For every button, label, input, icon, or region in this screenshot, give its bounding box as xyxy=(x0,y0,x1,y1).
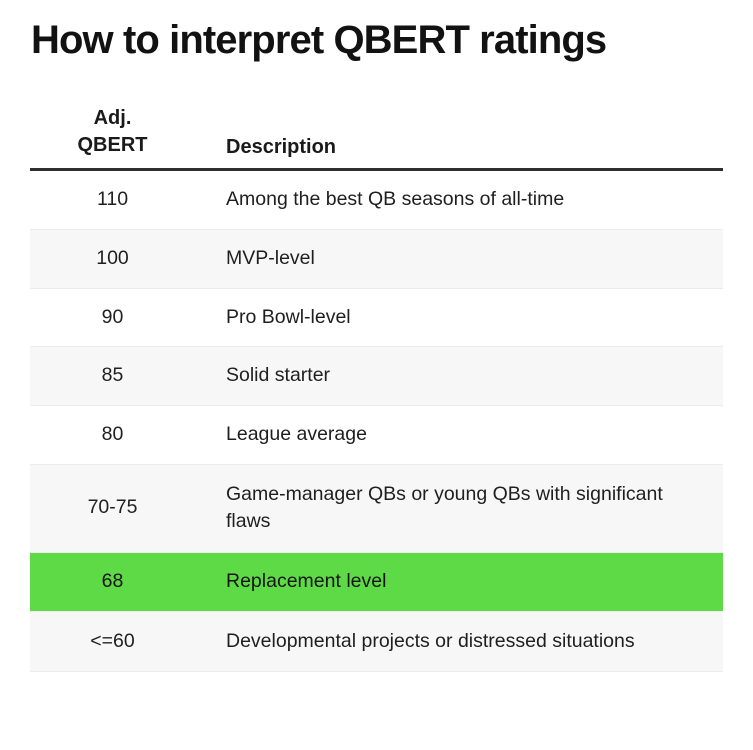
column-header-adj-qbert-line1: Adj. xyxy=(30,105,195,132)
column-header-adj-qbert: Adj. QBERT xyxy=(30,105,195,170)
table-row: 100MVP-level xyxy=(30,229,723,288)
cell-description: Replacement level xyxy=(195,552,723,611)
cell-description-text: Pro Bowl-level xyxy=(226,304,704,332)
cell-description-text: Replacement level xyxy=(226,568,704,596)
cell-adj-qbert: 110 xyxy=(30,170,195,230)
cell-adj-qbert: 100 xyxy=(30,229,195,288)
cell-description: MVP-level xyxy=(195,229,723,288)
table-body: 110Among the best QB seasons of all-time… xyxy=(30,170,723,672)
table-row: 85Solid starter xyxy=(30,347,723,406)
cell-description-text: Solid starter xyxy=(226,362,704,390)
cell-description-text: Game-manager QBs or young QBs with signi… xyxy=(226,481,704,536)
table-header: Adj. QBERT Description xyxy=(30,105,723,170)
table-header-row: Adj. QBERT Description xyxy=(30,105,723,170)
cell-description-text: Among the best QB seasons of all-time xyxy=(226,186,704,214)
cell-adj-qbert: 80 xyxy=(30,405,195,464)
table-row: 68Replacement level xyxy=(30,552,723,611)
table-row: 70-75Game-manager QBs or young QBs with … xyxy=(30,464,723,552)
qbert-ratings-table: Adj. QBERT Description 110Among the best… xyxy=(30,105,723,673)
column-header-adj-qbert-line2: QBERT xyxy=(30,132,195,159)
cell-description-text: League average xyxy=(226,421,704,449)
cell-description: Pro Bowl-level xyxy=(195,288,723,347)
cell-description: Solid starter xyxy=(195,347,723,406)
cell-adj-qbert: 68 xyxy=(30,552,195,611)
cell-description-text: Developmental projects or distressed sit… xyxy=(226,628,704,656)
cell-adj-qbert: 90 xyxy=(30,288,195,347)
cell-adj-qbert: 85 xyxy=(30,347,195,406)
qbert-ratings-table-container: Adj. QBERT Description 110Among the best… xyxy=(0,105,753,673)
cell-description: Game-manager QBs or young QBs with signi… xyxy=(195,464,723,552)
column-header-description: Description xyxy=(195,105,723,170)
cell-adj-qbert: 70-75 xyxy=(30,464,195,552)
table-row: 80League average xyxy=(30,405,723,464)
table-row: 90Pro Bowl-level xyxy=(30,288,723,347)
article-page: How to interpret QBERT ratings Adj. QBER… xyxy=(0,0,753,750)
table-row: <=60Developmental projects or distressed… xyxy=(30,611,723,672)
cell-description: League average xyxy=(195,405,723,464)
page-title: How to interpret QBERT ratings xyxy=(0,0,701,63)
cell-description-text: MVP-level xyxy=(226,245,704,273)
cell-description: Among the best QB seasons of all-time xyxy=(195,170,723,230)
cell-description: Developmental projects or distressed sit… xyxy=(195,611,723,672)
cell-adj-qbert: <=60 xyxy=(30,611,195,672)
table-row: 110Among the best QB seasons of all-time xyxy=(30,170,723,230)
